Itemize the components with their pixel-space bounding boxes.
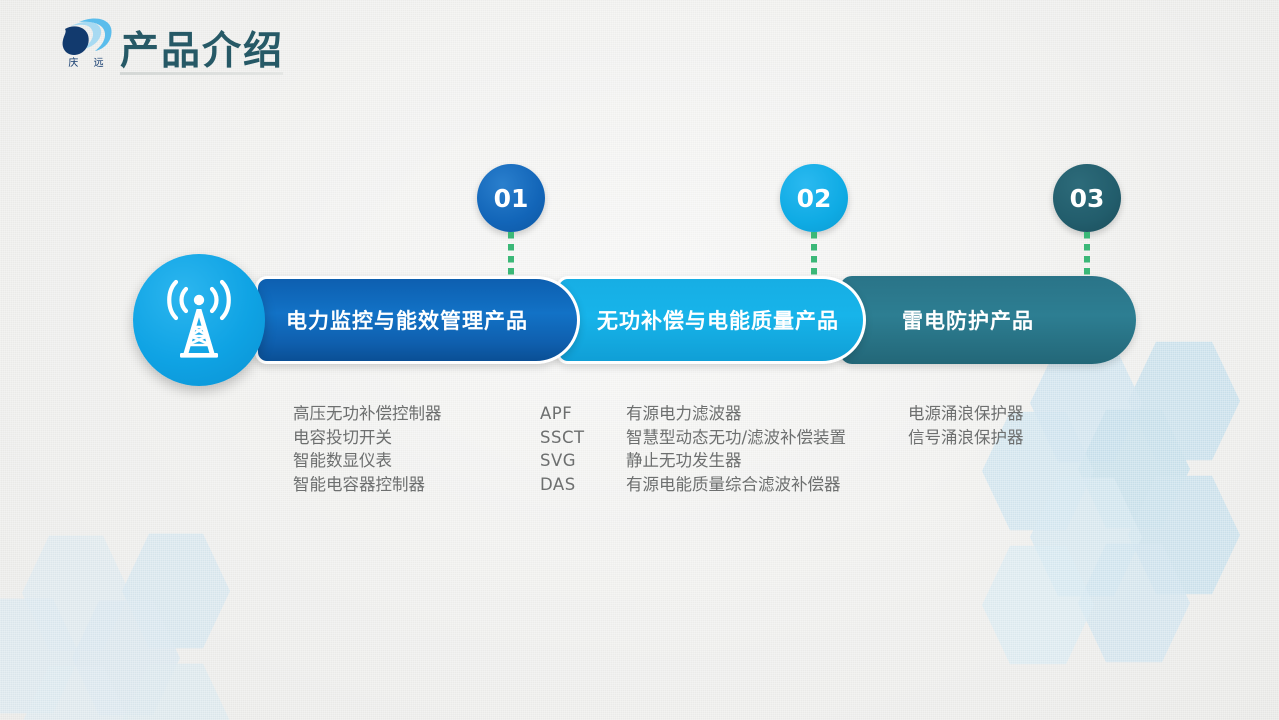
broadcast-tower-icon [156, 279, 242, 361]
logo-wordmark: 庆 远 [54, 54, 124, 69]
list-item: APF 有源电力滤波器 [540, 402, 846, 426]
connector-line-02 [811, 232, 817, 278]
list-item: 电源涌浪保护器 [908, 402, 1024, 426]
process-segment-01-label: 电力监控与能效管理产品 [286, 305, 528, 335]
process-segment-01[interactable]: 电力监控与能效管理产品 [255, 276, 580, 364]
list-item: DAS 有源电能质量综合滤波补偿器 [540, 473, 846, 497]
process-segment-02[interactable]: 无功补偿与电能质量产品 [556, 276, 866, 364]
hexagon-decoration [1128, 472, 1240, 598]
step-number-03: 03 [1070, 184, 1105, 213]
product-name: 有源电力滤波器 [626, 402, 846, 426]
product-name: 智慧型动态无功/滤波补偿装置 [626, 426, 846, 450]
product-code: DAS [540, 473, 626, 497]
list-item: 电容投切开关 [293, 426, 442, 450]
list-item: 智能电容器控制器 [293, 473, 442, 497]
list-item: 高压无功补偿控制器 [293, 402, 442, 426]
hexagon-decoration [982, 542, 1094, 668]
product-name: 静止无功发生器 [626, 449, 846, 473]
step-number-02: 02 [797, 184, 832, 213]
process-segment-03[interactable]: 雷电防护产品 [840, 276, 1136, 364]
hexagon-decoration [22, 532, 130, 654]
product-name: 有源电能质量综合滤波补偿器 [626, 473, 846, 497]
step-circle-01[interactable]: 01 [477, 164, 545, 232]
hexagon-decoration [0, 595, 80, 717]
product-code: SVG [540, 449, 626, 473]
product-list-power-monitoring: 高压无功补偿控制器 电容投切开关 智能数显仪表 智能电容器控制器 [293, 402, 442, 496]
page-title: 产品介绍 [120, 20, 284, 76]
hexagon-decoration [1078, 540, 1190, 666]
process-segment-03-label: 雷电防护产品 [902, 305, 1034, 335]
connector-line-01 [508, 232, 514, 278]
list-item: SVG 静止无功发生器 [540, 449, 846, 473]
hexagon-decoration [72, 597, 180, 719]
connector-line-03 [1084, 232, 1090, 278]
hexagon-decoration [122, 530, 230, 652]
title-underline [120, 72, 283, 75]
list-item: SSCT 智慧型动态无功/滤波补偿装置 [540, 426, 846, 450]
list-item: 信号涌浪保护器 [908, 426, 1024, 450]
product-list-reactive-power: APF 有源电力滤波器 SSCT 智慧型动态无功/滤波补偿装置 SVG 静止无功… [540, 402, 846, 496]
process-segment-02-label: 无功补偿与电能质量产品 [597, 305, 839, 335]
hexagon-decoration [22, 662, 130, 720]
product-code: APF [540, 402, 626, 426]
product-list-lightning-protection: 电源涌浪保护器 信号涌浪保护器 [908, 402, 1024, 449]
slide-header: 庆 远 产品介绍 [0, 0, 1279, 95]
list-item: 智能数显仪表 [293, 449, 442, 473]
qingyuan-logo: 庆 远 [57, 14, 119, 69]
hexagon-decoration [1030, 474, 1142, 600]
hexagon-decoration [122, 660, 230, 720]
step-number-01: 01 [494, 184, 529, 213]
step-circle-02[interactable]: 02 [780, 164, 848, 232]
slide-canvas: 庆 远 产品介绍 01 02 03 雷电防护产品 无功补偿与电能质量产品 电力监… [0, 0, 1279, 720]
step-circle-03[interactable]: 03 [1053, 164, 1121, 232]
product-code: SSCT [540, 426, 626, 450]
broadcast-tower-icon-disc[interactable] [133, 254, 265, 386]
hexagon-decoration [1078, 406, 1190, 532]
